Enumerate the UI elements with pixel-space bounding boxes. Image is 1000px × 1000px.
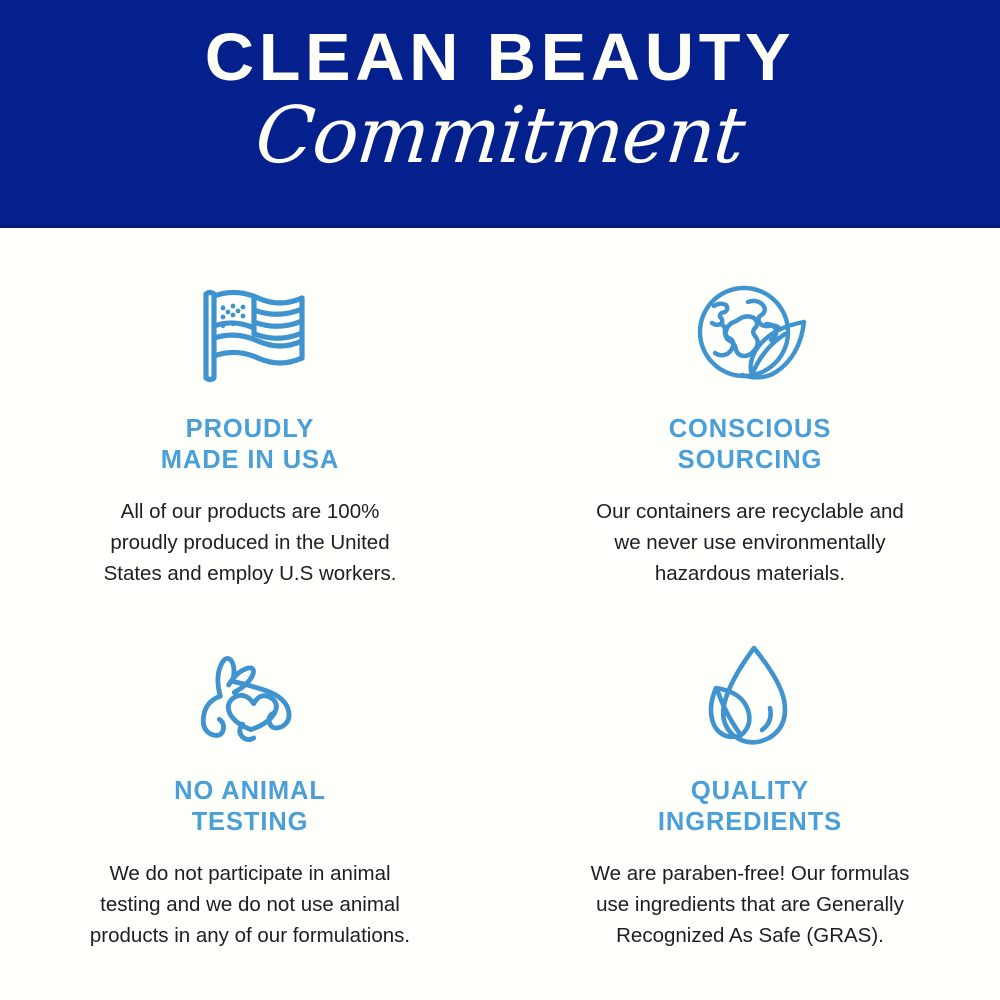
water-droplet-leaf-icon — [685, 642, 815, 754]
card-title: QUALITY INGREDIENTS — [658, 776, 842, 838]
card-body: Our containers are recyclable and we nev… — [550, 496, 950, 589]
card-body: All of our products are 100% proudly pro… — [60, 496, 440, 589]
clean-beauty-commitment-page: CLEAN BEAUTY Commitment — [0, 0, 1000, 1000]
card-body: We are paraben-free! Our formulas use in… — [550, 858, 950, 951]
usa-flag-icon — [185, 280, 315, 392]
commitment-card-quality-ingredients: QUALITY INGREDIENTS We are paraben-free!… — [500, 614, 1000, 1000]
card-title: CONSCIOUS SOURCING — [669, 414, 832, 476]
commitment-card-made-in-usa: PROUDLY MADE IN USA All of our products … — [0, 228, 500, 614]
header-banner: CLEAN BEAUTY Commitment — [0, 0, 1000, 228]
card-body: We do not participate in animal testing … — [60, 858, 440, 951]
globe-leaf-icon — [685, 280, 815, 392]
banner-title: CLEAN BEAUTY — [0, 22, 1000, 94]
commitment-grid: PROUDLY MADE IN USA All of our products … — [0, 228, 1000, 1000]
commitment-card-no-animal-testing: NO ANIMAL TESTING We do not participate … — [0, 614, 500, 1000]
banner-script-title: Commitment — [10, 88, 990, 184]
commitment-card-conscious-sourcing: CONSCIOUS SOURCING Our containers are re… — [500, 228, 1000, 614]
rabbit-heart-icon — [185, 642, 315, 754]
card-title: NO ANIMAL TESTING — [174, 776, 326, 838]
card-title: PROUDLY MADE IN USA — [161, 414, 340, 476]
